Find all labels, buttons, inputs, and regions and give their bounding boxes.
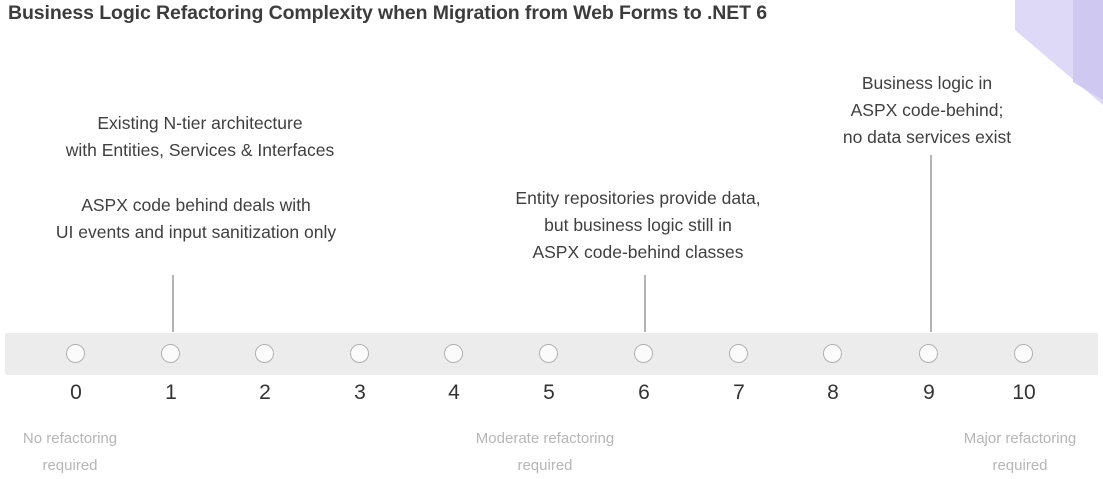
scale-track[interactable] [5,333,1098,375]
annotation-line: ASPX code-behind classes [515,239,760,266]
connector-line-1 [172,275,174,332]
scale-marker-9[interactable] [919,344,938,363]
scale-label-4: 4 [424,381,484,405]
scale-label-5: 5 [519,381,579,405]
scale-marker-5[interactable] [539,344,558,363]
annotation-line: but business logic still in [515,212,760,239]
scale-label-9: 9 [899,381,959,405]
scale-marker-0[interactable] [66,344,85,363]
scale-marker-6[interactable] [634,344,653,363]
caption-line: Major refactoring [910,425,1103,452]
connector-line-9 [930,155,932,332]
annotation-line: no data services exist [843,124,1011,151]
scale-label-7: 7 [709,381,769,405]
scale-label-10: 10 [994,381,1054,405]
annotation-existing-architecture: Existing N-tier architecture with Entiti… [66,110,334,164]
scale-label-3: 3 [330,381,390,405]
annotation-aspx-ui-events: ASPX code behind deals with UI events an… [56,192,336,246]
scale-marker-4[interactable] [444,344,463,363]
annotation-line: Entity repositories provide data, [515,185,760,212]
scale-marker-7[interactable] [729,344,748,363]
annotation-entity-repositories: Entity repositories provide data, but bu… [515,185,760,266]
caption-major-refactoring: Major refactoring required [910,425,1103,479]
caption-no-refactoring: No refactoring required [0,425,180,479]
annotation-line: ASPX code behind deals with [56,192,336,219]
scale-label-8: 8 [803,381,863,405]
annotation-line: Existing N-tier architecture [66,110,334,137]
scale-marker-3[interactable] [350,344,369,363]
annotation-line: UI events and input sanitization only [56,219,336,246]
annotation-business-logic-codebehind: Business logic in ASPX code-behind; no d… [843,70,1011,151]
scale-label-1: 1 [141,381,201,405]
diagram-root: Business Logic Refactoring Complexity wh… [0,0,1103,475]
scale-marker-1[interactable] [161,344,180,363]
connector-line-6 [644,275,646,332]
scale-marker-8[interactable] [823,344,842,363]
annotation-line: Business logic in [843,70,1011,97]
caption-moderate-refactoring: Moderate refactoring required [435,425,655,479]
annotation-line: ASPX code-behind; [843,97,1011,124]
scale-marker-10[interactable] [1014,344,1033,363]
scale-label-6: 6 [614,381,674,405]
page-title: Business Logic Refactoring Complexity wh… [8,2,767,25]
scale-marker-2[interactable] [255,344,274,363]
annotation-line: with Entities, Services & Interfaces [66,137,334,164]
caption-line: Moderate refactoring [435,425,655,452]
scale-label-0: 0 [46,381,106,405]
scale-label-2: 2 [235,381,295,405]
caption-line: No refactoring [0,425,180,452]
